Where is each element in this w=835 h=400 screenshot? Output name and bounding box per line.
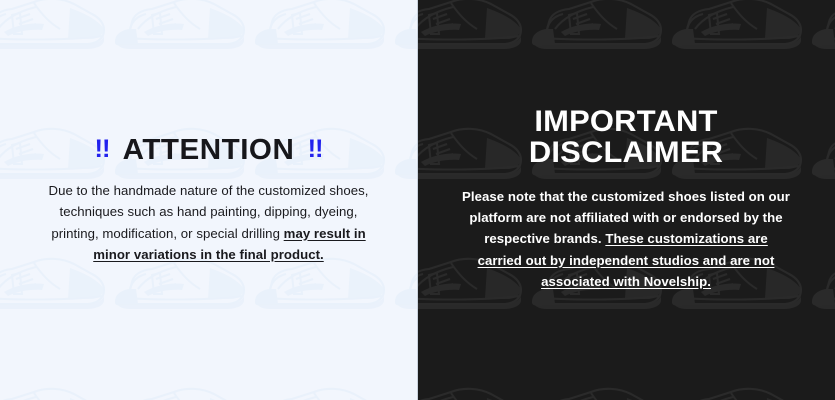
disclaimer-heading: IMPORTANT DISCLAIMER xyxy=(435,107,816,168)
important-disclaimer-panel: IMPORTANT DISCLAIMER Please note that th… xyxy=(417,0,835,400)
dual-notice-banner: !! ATTENTION !! Due to the handmade natu… xyxy=(0,0,835,400)
attention-panel: !! ATTENTION !! Due to the handmade natu… xyxy=(0,0,417,400)
disclaimer-heading-line-2: DISCLAIMER xyxy=(435,138,816,169)
disclaimer-heading-line-1: IMPORTANT xyxy=(435,107,816,138)
panel-divider xyxy=(417,0,418,400)
disclaimer-content: IMPORTANT DISCLAIMER Please note that th… xyxy=(417,107,835,292)
disclaimer-body: Please note that the customized shoes li… xyxy=(461,186,791,293)
attention-content: !! ATTENTION !! Due to the handmade natu… xyxy=(0,135,417,266)
attention-heading-text: ATTENTION xyxy=(123,135,295,165)
attention-heading: !! ATTENTION !! xyxy=(20,135,396,165)
attention-body: Due to the handmade nature of the custom… xyxy=(49,180,369,266)
exclamation-left-icon: !! xyxy=(94,136,109,162)
exclamation-right-icon: !! xyxy=(308,136,323,162)
